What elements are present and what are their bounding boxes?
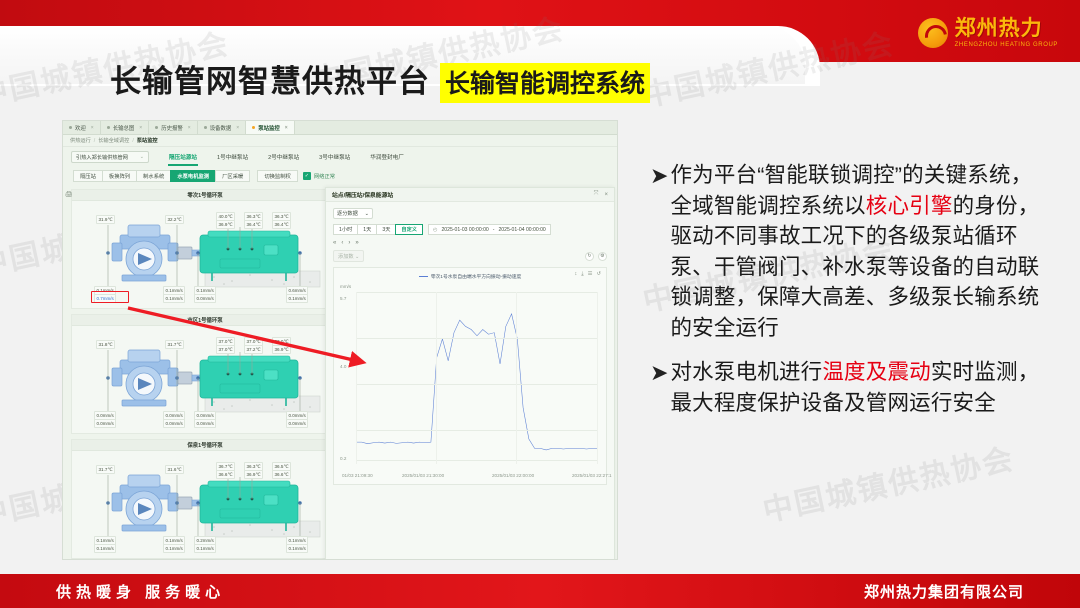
bearing-temp-reading: 37.0℃ — [216, 345, 235, 354]
breadcrumb-current: 泵站监控 — [137, 137, 158, 144]
motor-temp-reading: 31.8℃ — [96, 340, 115, 349]
station-bar: 引热入郑长输供热管网 ⌄ 隔压站源站 1号中继泵站 2号中继泵站 3号中继泵站 … — [63, 147, 617, 167]
motor-temp-reading: 31.7℃ — [165, 340, 184, 349]
sub-tab-pressure-isolation[interactable]: 隔压站 — [73, 170, 103, 182]
gridline — [356, 292, 598, 293]
date-range-picker[interactable]: ◴ 2025-01-03 00:00:00 - 2025-01-04 00:00… — [428, 224, 551, 235]
network-status: ✓ 网络正常 — [303, 172, 335, 180]
bearing-temp-reading: 37.2℃ — [244, 345, 263, 354]
chevron-down-icon: ⌄ — [140, 154, 144, 160]
pump-diagram-column: 零次1号循环泵 — [71, 189, 339, 560]
station-tab-relay-1[interactable]: 1号中继泵站 — [207, 153, 258, 161]
workspace: 零次1号循环泵 — [63, 185, 617, 560]
bullet-segment-highlight: 温度及震动 — [822, 360, 931, 384]
time-range-row: 1小时 1天 3天 自定义 ◴ 2025-01-03 00:00:00 - 20… — [333, 224, 607, 235]
vibration-reading: 0.1mm/s — [163, 544, 185, 553]
bullet-list: ➤ 作为平台“智能联锁调控”的关键系统，全域智能调控系统以核心引擎的身份，驱动不… — [650, 160, 1040, 432]
pump-diagram: 31.7℃ 31.6℃ 36.7℃ 36.3℃ 36.5℃ 36.6℃ 36.9… — [72, 451, 338, 559]
list-item: ➤ 作为平台“智能联锁调控”的关键系统，全域智能调控系统以核心引擎的身份，驱动不… — [650, 160, 1040, 343]
tab-label: 长输总图 — [113, 124, 135, 132]
tab-dot-icon — [155, 126, 158, 129]
tab-label: 历史报警 — [161, 124, 183, 132]
tab-overview-map[interactable]: 长输总图 × — [101, 121, 150, 134]
highlight-box — [91, 291, 129, 303]
tab-bar-filler — [295, 121, 617, 134]
breadcrumb-item[interactable]: 供热运行 — [70, 137, 91, 144]
vibration-reading: 0.1mm/s — [286, 544, 308, 553]
pump-diagram: 31.9℃ 32.2℃ 40.0℃ 36.3℃ 36.3℃ 36.9℃ 36.4… — [72, 201, 338, 309]
bullet-segment-highlight: 核心引擎 — [866, 194, 953, 218]
logo-text: 郑州热力 ZHENGZHOU HEATING GROUP — [955, 18, 1058, 48]
close-icon[interactable]: × — [91, 125, 94, 131]
gridline — [356, 338, 598, 339]
sub-tab-water-treatment[interactable]: 制水系统 — [136, 170, 171, 182]
granularity-select[interactable]: 逐分数据 ⌄ — [333, 208, 373, 219]
close-icon[interactable]: × — [236, 125, 239, 131]
vibration-reading: 0.1mm/s — [163, 294, 185, 303]
pump-title: 零次1号循环泵 — [72, 190, 338, 201]
dialog-title: 站点/隔压站/保泉能源站 — [332, 190, 588, 199]
footer-slogan: 供热暖身 服务暖心 — [56, 581, 225, 602]
y-axis-tick: 0.2 — [340, 456, 346, 461]
breadcrumb-separator: / — [132, 138, 133, 144]
sub-tab-pump-motor-monitoring[interactable]: 水泵电机监测 — [170, 170, 216, 182]
trend-dialog: 站点/隔压站/保泉能源站 ⤧ × 逐分数据 ⌄ 1小时 1天 3天 自定 — [325, 187, 615, 560]
bearing-temp-reading: 36.6℃ — [272, 470, 291, 479]
x-axis-tick: 2025/01/03 22:27:1 — [572, 473, 612, 478]
title-main-text: 长输管网智慧供热平台 — [110, 56, 430, 101]
pager-last[interactable]: » — [355, 240, 358, 246]
chevron-down-icon: ⌄ — [365, 211, 369, 217]
logo-english-name: ZHENGZHOU HEATING GROUP — [955, 42, 1058, 48]
add-data-label: 添加数 — [338, 254, 354, 260]
close-icon[interactable]: × — [188, 125, 191, 131]
bearing-temp-reading: 36.9℃ — [244, 470, 263, 479]
bullet-text: 作为平台“智能联锁调控”的关键系统，全域智能调控系统以核心引擎的身份，驱动不同事… — [670, 160, 1040, 343]
network-select[interactable]: 引热入郑长输供热管网 ⌄ — [71, 151, 149, 163]
motor-temp-reading: 31.7℃ — [96, 465, 115, 474]
add-data-button[interactable]: 添加数 ⌄ — [333, 250, 364, 262]
embedded-app-screenshot: 欢迎 × 长输总图 × 历史报警 × 设备数据 × 泵站监控 × 供热运行 / … — [62, 120, 618, 560]
footer-company: 郑州热力集团有限公司 — [864, 581, 1024, 602]
granularity-row: 逐分数据 ⌄ — [333, 208, 607, 219]
legend-line-icon — [419, 276, 428, 277]
pump-card: 保泉1号循环泵 — [71, 439, 339, 559]
breadcrumb: 供热运行 / 长输全域调控 / 泵站监控 — [63, 135, 617, 147]
title-highlight-text: 长输智能调控系统 — [440, 63, 650, 103]
tab-history-alarms[interactable]: 历史报警 × — [149, 121, 198, 134]
tab-pump-station-monitor[interactable]: 泵站监控 × — [246, 121, 295, 134]
tab-label: 泵站监控 — [258, 124, 280, 132]
pump-diagram: 31.8℃ 31.7℃ 37.0℃ 37.0℃ 37.0℃ 37.0℃ 37.2… — [72, 326, 338, 434]
x-axis-tick: 01/03 21:09:30 — [342, 473, 373, 478]
time-range-segment: 1小时 1天 3天 自定义 — [333, 224, 423, 235]
tab-dot-icon — [204, 126, 207, 129]
add-series-row: 添加数 ⌄ ↻ ⚙ — [333, 250, 607, 262]
dialog-header: 站点/隔压站/保泉能源站 ⤧ × — [326, 188, 614, 202]
pump-card: 市区1号循环泵 — [71, 314, 339, 434]
gridline — [436, 292, 437, 464]
bullet-arrow-icon: ➤ — [650, 160, 668, 343]
motor-temp-reading: 31.9℃ — [96, 215, 115, 224]
company-logo: 郑州热力 ZHENGZHOU HEATING GROUP — [918, 14, 1058, 52]
network-status-label: 网络正常 — [314, 172, 335, 180]
legend-label[interactable]: 零次1号水泵自由端水平方向振动-振动速度 — [431, 273, 522, 280]
tab-dot-icon — [107, 126, 110, 129]
app-tab-bar: 欢迎 × 长输总图 × 历史报警 × 设备数据 × 泵站监控 × — [63, 121, 617, 135]
close-icon[interactable]: × — [604, 192, 608, 198]
gridline — [516, 292, 517, 464]
bearing-temp-reading: 36.4℃ — [272, 220, 291, 229]
expand-icon[interactable]: ⤧ — [594, 191, 599, 198]
tab-label: 欢迎 — [75, 124, 86, 132]
vibration-reading: 0.0mm/s — [163, 419, 185, 428]
clock-icon: ◴ — [433, 227, 437, 233]
sub-tab-plant-heating[interactable]: 厂区采暖 — [215, 170, 250, 182]
motor-temp-reading: 31.6℃ — [165, 465, 184, 474]
y-axis-tick: 4.0 — [340, 364, 346, 369]
pager-first[interactable]: « — [333, 240, 336, 246]
check-icon: ✓ — [303, 172, 311, 180]
tab-device-data[interactable]: 设备数据 × — [198, 121, 247, 134]
print-icon[interactable]: 🖨 — [65, 191, 73, 198]
range-3day[interactable]: 3天 — [376, 224, 395, 235]
close-icon[interactable]: × — [139, 125, 142, 131]
x-axis-tick: 2025/01/03 21:30:00 — [402, 473, 444, 478]
sub-tab-heat-exchanger-array[interactable]: 板换阵列 — [102, 170, 137, 182]
gridline — [356, 292, 357, 464]
bullet-text: 对水泵电机进行温度及震动实时监测，最大程度保护设备及管网运行安全 — [670, 357, 1040, 418]
bullet-arrow-icon: ➤ — [650, 357, 668, 418]
bullet-segment: 对水泵电机进行 — [670, 360, 822, 384]
date-end: 2025-01-04 00:00:00 — [498, 227, 545, 233]
gridline — [597, 292, 598, 464]
motor-temp-reading: 32.2℃ — [165, 215, 184, 224]
sub-tab-bar: 隔压站 板换阵列 制水系统 水泵电机监测 厂区采暖 切换监制权 ✓ 网络正常 — [63, 167, 617, 185]
pump-title: 保泉1号循环泵 — [72, 440, 338, 451]
gridline — [356, 460, 598, 461]
trend-chart: ↕ ⤓ ☰ ↺ 零次1号水泵自由端水平方向振动-振动速度 mm/s 5.7 4.… — [333, 267, 607, 485]
download-icon[interactable]: ⤓ — [581, 271, 583, 278]
chart-toolbar: ↕ ⤓ ☰ ↺ — [575, 271, 601, 278]
station-tab-source[interactable]: 隔压站源站 — [159, 153, 207, 161]
granularity-value: 逐分数据 — [337, 210, 358, 217]
x-axis-tick: 2025/01/03 22:00:00 — [492, 473, 534, 478]
resize-icon[interactable]: ↕ — [575, 271, 578, 278]
bearing-temp-reading: 36.4℃ — [244, 220, 263, 229]
bearing-temp-reading: 36.9℃ — [272, 345, 291, 354]
flame-swirl-icon — [918, 18, 948, 48]
breadcrumb-separator: / — [94, 138, 95, 144]
list-item: ➤ 对水泵电机进行温度及震动实时监测，最大程度保护设备及管网运行安全 — [650, 357, 1040, 418]
range-1day[interactable]: 1天 — [357, 224, 376, 235]
vibration-reading: 0.1mm/s — [194, 544, 216, 553]
tab-label: 设备数据 — [210, 124, 232, 132]
page-title: 长输管网智慧供热平台 长输智能调控系统 — [110, 56, 650, 103]
network-select-value: 引热入郑长输供热管网 — [76, 154, 128, 161]
pager-prev[interactable]: ‹ — [341, 240, 343, 246]
switch-control-authority-button[interactable]: 切换监制权 — [257, 170, 298, 182]
range-custom[interactable]: 自定义 — [395, 224, 423, 235]
y-axis-tick: 5.7 — [340, 296, 346, 301]
chevron-down-icon: ⌄ — [355, 254, 359, 260]
pump-card: 零次1号循环泵 — [71, 189, 339, 309]
vibration-reading: 0.0mm/s — [194, 294, 216, 303]
slide-footer: 供热暖身 服务暖心 郑州热力集团有限公司 — [0, 574, 1080, 608]
logo-chinese-name: 郑州热力 — [955, 18, 1058, 39]
gridline — [356, 430, 598, 431]
refresh-icon[interactable]: ↻ — [585, 252, 594, 261]
range-1hour[interactable]: 1小时 — [333, 224, 357, 235]
vibration-reading: 0.1mm/s — [94, 544, 116, 553]
bearing-temp-reading: 36.6℃ — [216, 470, 235, 479]
watermark-text: 中国城镇供热协会 — [758, 434, 1018, 530]
tab-dot-icon — [69, 126, 72, 129]
station-tab-relay-2[interactable]: 2号中继泵站 — [258, 153, 309, 161]
tab-dot-icon — [252, 126, 255, 129]
vibration-reading: 0.1mm/s — [286, 294, 308, 303]
pump-title: 市区1号循环泵 — [72, 315, 338, 326]
date-start: 2025-01-03 00:00:00 — [441, 227, 488, 233]
date-separator: - — [493, 227, 495, 233]
bearing-temp-reading: 36.9℃ — [216, 220, 235, 229]
gridline — [356, 384, 598, 385]
station-tab-power-plant[interactable]: 华润登封电厂 — [360, 153, 414, 161]
restore-icon[interactable]: ↺ — [596, 271, 601, 278]
pager: « ‹ › » — [333, 240, 607, 246]
chart-series-line — [356, 292, 598, 464]
vibration-reading: 0.0mm/s — [286, 419, 308, 428]
gear-icon[interactable]: ⚙ — [598, 252, 607, 261]
chart-legend: 零次1号水泵自由端水平方向振动-振动速度 — [340, 273, 600, 280]
breadcrumb-item[interactable]: 长输全域调控 — [98, 137, 129, 144]
dialog-action-buttons: ↻ ⚙ — [585, 252, 607, 261]
vibration-reading: 0.0mm/s — [194, 419, 216, 428]
pager-next[interactable]: › — [348, 240, 350, 246]
station-tab-relay-3[interactable]: 3号中继泵站 — [309, 153, 360, 161]
tab-welcome[interactable]: 欢迎 × — [63, 121, 101, 134]
close-icon[interactable]: × — [285, 125, 288, 131]
chart-plot-area — [356, 292, 598, 464]
vibration-reading: 0.0mm/s — [94, 419, 116, 428]
dialog-body: 逐分数据 ⌄ 1小时 1天 3天 自定义 ◴ 2025-01-03 00:00:… — [326, 202, 614, 560]
table-icon[interactable]: ☰ — [588, 271, 593, 278]
y-axis-unit: mm/s — [340, 284, 351, 289]
